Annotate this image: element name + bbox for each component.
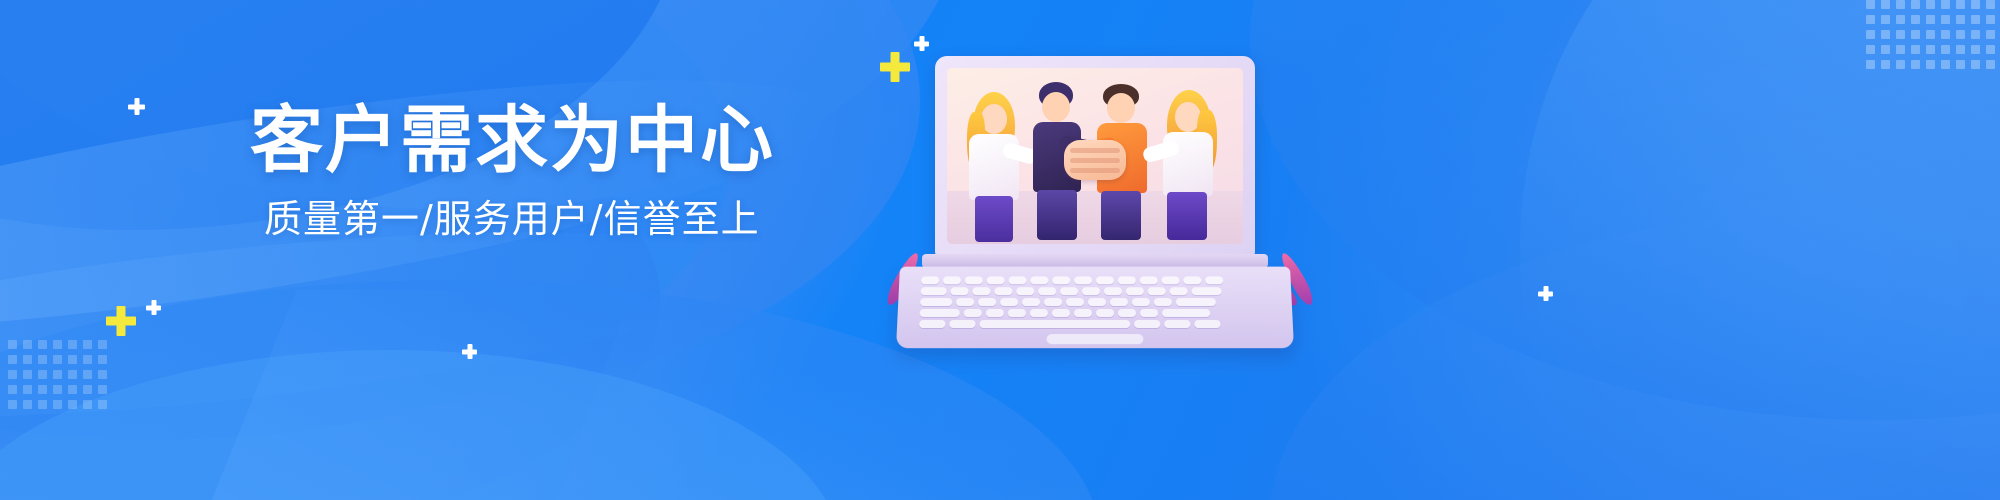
person-3-legs	[1101, 191, 1141, 240]
background-wave-right-edge	[1520, 0, 2000, 500]
person-3-head	[1107, 93, 1135, 123]
banner-subheadline: 质量第一/服务用户/信誉至上	[264, 199, 890, 241]
laptop-base	[896, 267, 1294, 349]
background-wave-right-glow	[1260, 0, 2000, 500]
plus-sparkle-white-bottom	[146, 300, 161, 315]
laptop-screen	[947, 68, 1243, 244]
background-wave-right-low	[1270, 210, 2000, 500]
laptop-trackpad	[1047, 334, 1144, 344]
person-4-legs	[1167, 192, 1207, 240]
plus-sparkle-yellow-bottom	[106, 306, 136, 336]
person-1	[959, 90, 1029, 240]
banner-headline: 客户需求为中心	[250, 104, 890, 177]
background-wave-right-sweep	[1250, 0, 2000, 420]
plus-sparkle-white-tiny	[128, 98, 145, 115]
person-4	[1151, 88, 1225, 240]
laptop-lid	[935, 56, 1255, 256]
background-wave-deep-left	[0, 0, 990, 500]
stacked-hands	[1064, 140, 1126, 180]
plus-sparkle-white-right	[1538, 286, 1553, 301]
laptop-teamwork-illustration	[880, 28, 1320, 358]
background-wave-bottom-light	[0, 350, 840, 500]
promo-banner: 客户需求为中心 质量第一/服务用户/信誉至上	[0, 0, 2000, 500]
person-1-legs	[975, 196, 1013, 242]
person-2-legs	[1037, 190, 1077, 240]
banner-copy: 客户需求为中心 质量第一/服务用户/信誉至上	[250, 104, 890, 241]
laptop-keyboard	[919, 276, 1271, 326]
plus-sparkle-white-mid	[462, 344, 477, 359]
person-2-head	[1042, 92, 1070, 122]
